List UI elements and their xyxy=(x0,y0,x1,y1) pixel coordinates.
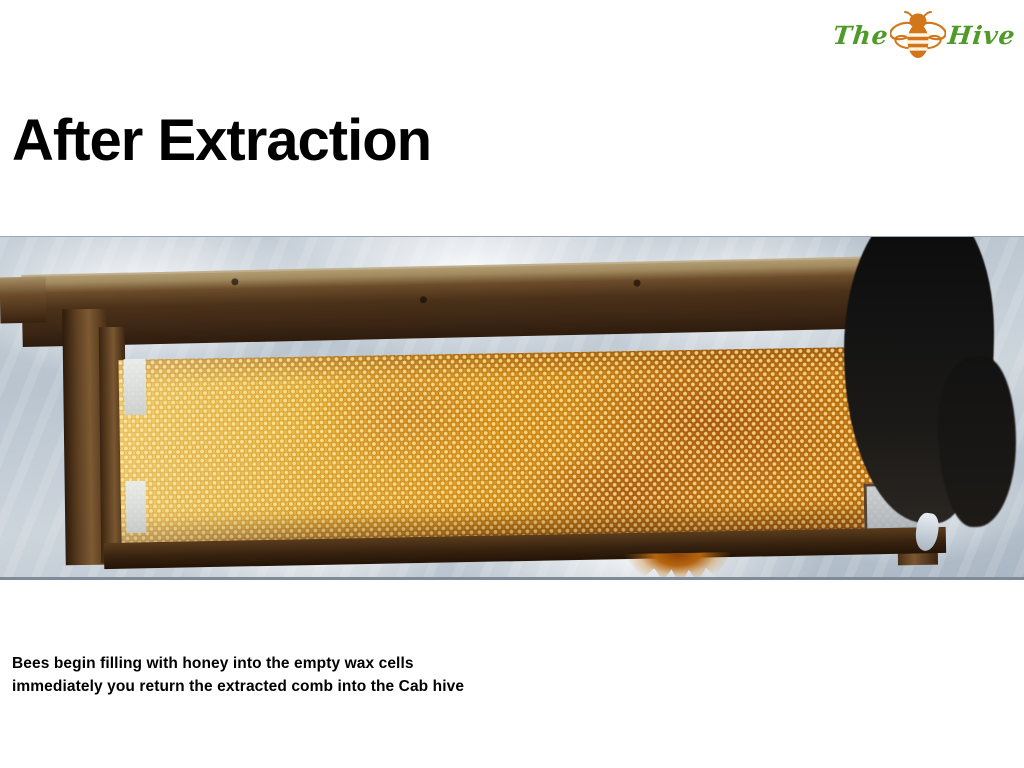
frame-top-bar xyxy=(21,254,967,347)
slide-caption: Bees begin filling with honey into the e… xyxy=(12,652,732,699)
bee-icon xyxy=(890,9,946,61)
the-hive-logo: The Hive xyxy=(836,6,1016,64)
slide-root: The Hive After Extraction xyxy=(0,0,1024,768)
hive-frame xyxy=(12,267,972,567)
frame-top-lug xyxy=(0,277,46,324)
comb-gap-lower-left xyxy=(126,481,147,533)
frame-nail xyxy=(420,296,427,303)
frame-nail xyxy=(633,280,640,287)
gloved-hand-silhouette-lower xyxy=(938,357,1016,527)
frame-nail xyxy=(231,278,238,285)
honeycomb-frame-photo xyxy=(0,236,1024,580)
logo-word-hive: Hive xyxy=(947,23,1017,48)
honeycomb-highlight xyxy=(118,346,921,550)
caption-line-1: Bees begin filling with honey into the e… xyxy=(12,652,732,675)
caption-line-2: immediately you return the extracted com… xyxy=(12,675,732,698)
honeycomb-surface xyxy=(118,346,921,550)
page-title: After Extraction xyxy=(12,111,431,172)
comb-gap-upper-left xyxy=(124,359,147,415)
logo-word-the: The xyxy=(831,23,889,48)
